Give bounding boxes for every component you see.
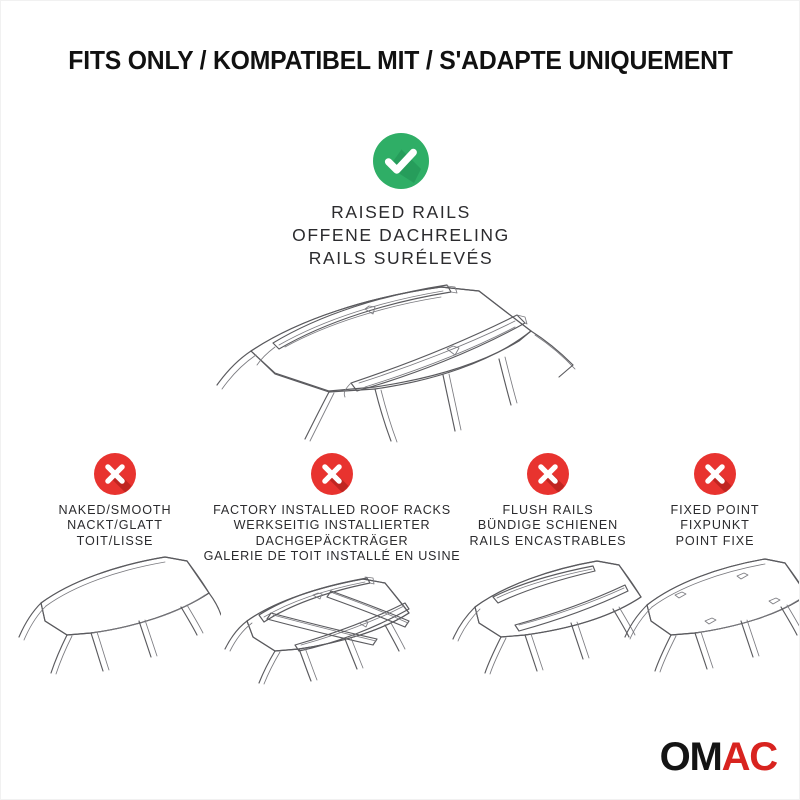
incompatible-labels-flush: FLUSH RAILS BÜNDIGE SCHIENEN RAILS ENCAS… <box>453 503 643 549</box>
label-naked-fr: TOIT/LISSE <box>15 534 215 549</box>
label-fixed-fr: POINT FIXE <box>629 534 800 549</box>
incompatible-item-fixed: FIXED POINT FIXPUNKT POINT FIXE <box>629 453 800 549</box>
cross-circle-icon <box>694 453 736 495</box>
incompatible-labels-fixed: FIXED POINT FIXPUNKT POINT FIXE <box>629 503 800 549</box>
compatible-labels: RAISED RAILS OFFENE DACHRELING RAILS SUR… <box>1 201 800 270</box>
infographic-page: FITS ONLY / KOMPATIBEL MIT / S'ADAPTE UN… <box>0 0 800 800</box>
label-flush-fr: RAILS ENCASTRABLES <box>453 534 643 549</box>
incompatible-item-flush: FLUSH RAILS BÜNDIGE SCHIENEN RAILS ENCAS… <box>453 453 643 549</box>
incompatible-item-naked: NAKED/SMOOTH NACKT/GLATT TOIT/LISSE <box>15 453 215 549</box>
compatible-label-de: OFFENE DACHRELING <box>1 224 800 247</box>
label-naked-en: NAKED/SMOOTH <box>15 503 215 518</box>
omac-logo: OMAC <box>660 737 777 777</box>
label-factory-de-1: WERKSEITIG INSTALLIERTER <box>203 518 461 533</box>
title-bar: FITS ONLY / KOMPATIBEL MIT / S'ADAPTE UN… <box>1 47 800 76</box>
label-flush-en: FLUSH RAILS <box>453 503 643 518</box>
logo-text-om: OM <box>660 735 722 779</box>
incompatible-labels-naked: NAKED/SMOOTH NACKT/GLATT TOIT/LISSE <box>15 503 215 549</box>
page-title: FITS ONLY / KOMPATIBEL MIT / S'ADAPTE UN… <box>69 47 733 76</box>
compatible-section: RAISED RAILS OFFENE DACHRELING RAILS SUR… <box>1 133 800 270</box>
incompatible-section: NAKED/SMOOTH NACKT/GLATT TOIT/LISSE <box>1 453 800 693</box>
car-roof-fixed-point-illustration <box>617 551 800 681</box>
incompatible-labels-factory: FACTORY INSTALLED ROOF RACKS WERKSEITIG … <box>203 503 461 564</box>
label-fixed-en: FIXED POINT <box>629 503 800 518</box>
incompatible-item-factory: FACTORY INSTALLED ROOF RACKS WERKSEITIG … <box>203 453 461 564</box>
car-roof-naked-smooth-illustration <box>11 551 221 681</box>
label-fixed-de: FIXPUNKT <box>629 518 800 533</box>
check-circle-icon <box>373 133 429 189</box>
car-roof-factory-roof-racks-illustration <box>209 565 459 690</box>
car-roof-raised-rails-illustration <box>179 279 629 454</box>
cross-circle-icon <box>94 453 136 495</box>
logo-text-ac: AC <box>722 735 777 779</box>
cross-circle-icon <box>527 453 569 495</box>
label-factory-de-2: DACHGEPÄCKTRÄGER <box>203 534 461 549</box>
compatible-label-fr: RAILS SURÉLEVÉS <box>1 247 800 270</box>
label-flush-de: BÜNDIGE SCHIENEN <box>453 518 643 533</box>
compatible-label-en: RAISED RAILS <box>1 201 800 224</box>
cross-circle-icon <box>311 453 353 495</box>
label-naked-de: NACKT/GLATT <box>15 518 215 533</box>
label-factory-en: FACTORY INSTALLED ROOF RACKS <box>203 503 461 518</box>
label-factory-fr: GALERIE DE TOIT INSTALLÉ EN USINE <box>203 549 461 564</box>
